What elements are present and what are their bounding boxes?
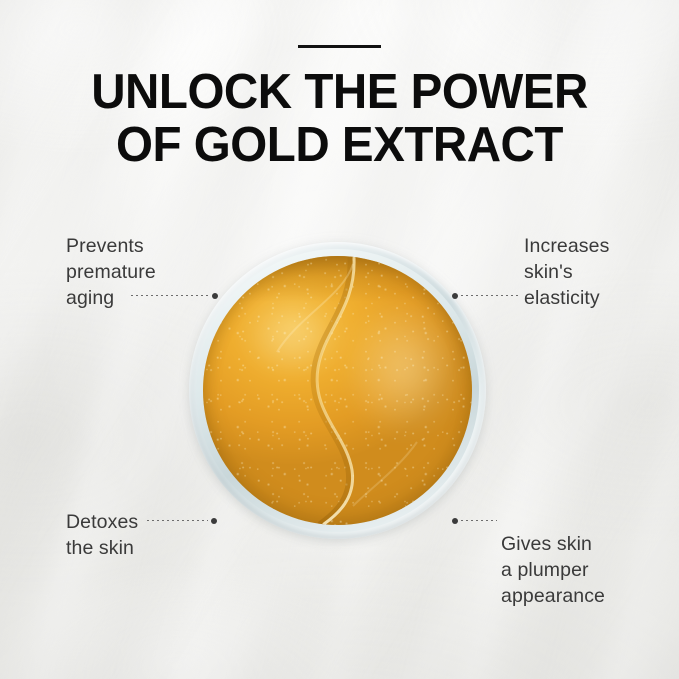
leader-line-bottom-left bbox=[147, 516, 217, 525]
callout-label-gives-skin-plumper-appearance: Gives skin a plumper appearance bbox=[501, 531, 605, 609]
leader-line-top-left bbox=[131, 291, 218, 300]
leader-dots-top-right bbox=[461, 295, 520, 296]
product-benefits-poster: UNLOCK THE POWER OF GOLD EXTRACT bbox=[0, 0, 679, 679]
callout-label-detoxes-the-skin: Detoxes the skin bbox=[66, 509, 138, 561]
callout-label-increases-skin-elasticity: Increases skin's elasticity bbox=[524, 233, 609, 311]
leader-dots-bottom-right bbox=[461, 520, 497, 521]
page-title-line-1: UNLOCK THE POWER bbox=[91, 65, 588, 119]
leader-line-top-right bbox=[452, 291, 520, 300]
leader-line-bottom-right bbox=[452, 516, 497, 525]
title-divider-rule bbox=[298, 45, 381, 48]
gold-eye-patch-jar bbox=[189, 242, 486, 539]
leader-node-top-left bbox=[212, 293, 218, 299]
leader-node-bottom-left bbox=[211, 518, 217, 524]
leader-node-top-right bbox=[452, 293, 458, 299]
patch-seam bbox=[203, 256, 472, 525]
leader-dots-top-left bbox=[131, 295, 209, 296]
leader-node-bottom-right bbox=[452, 518, 458, 524]
leader-dots-bottom-left bbox=[147, 520, 208, 521]
page-title: UNLOCK THE POWER OF GOLD EXTRACT bbox=[10, 66, 669, 172]
page-title-line-2: OF GOLD EXTRACT bbox=[10, 119, 669, 172]
gold-gel-content bbox=[203, 256, 472, 525]
